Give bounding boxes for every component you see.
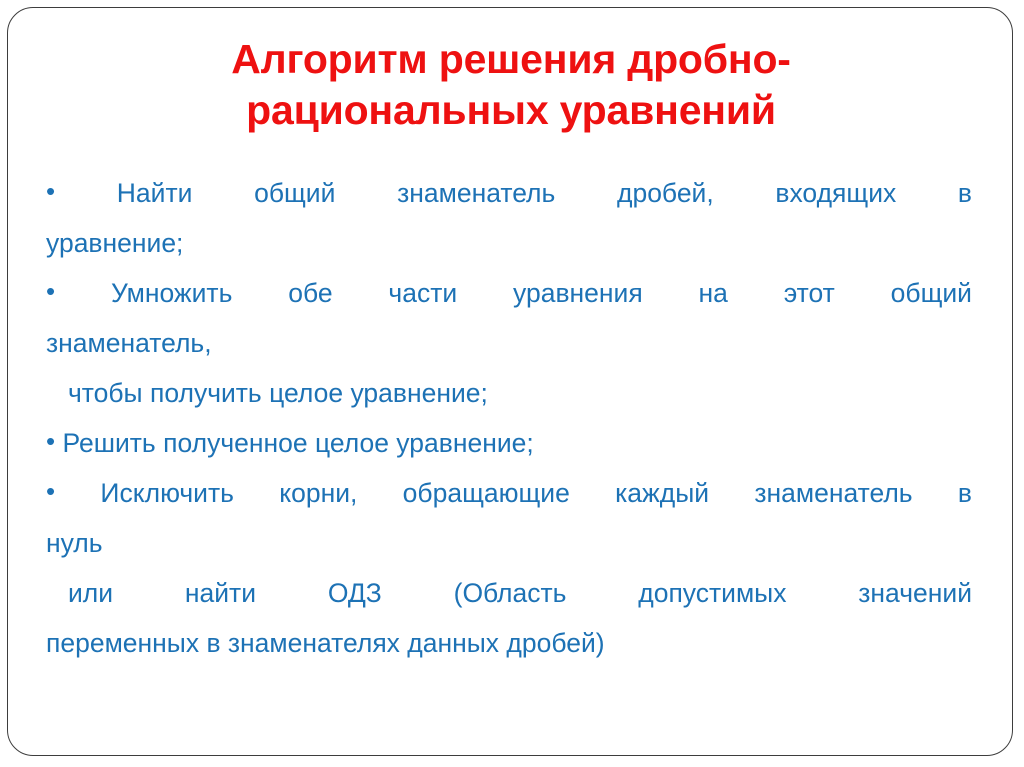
list-item-line: или найти ОДЗ (Область допустимых значен…	[46, 568, 972, 618]
algorithm-steps-list: • Найти общий знаменатель дробей, входящ…	[46, 168, 972, 668]
list-item: • Найти общий знаменатель дробей, входящ…	[46, 168, 972, 268]
list-item: • Исключить корни, обращающие каждый зна…	[46, 468, 972, 568]
list-item-text: Исключить корни, обращающие каждый знаме…	[100, 478, 972, 508]
list-item-text: уравнение;	[46, 228, 183, 258]
list-item-line: • Исключить корни, обращающие каждый зна…	[46, 468, 972, 518]
page-title-line-1: Алгоритм решения дробно-	[78, 34, 944, 85]
bullet-icon: •	[46, 428, 55, 454]
slide-frame: Алгоритм решения дробно- рациональных ур…	[7, 7, 1013, 756]
list-item-line: знаменатель,	[46, 318, 972, 368]
bullet-icon: •	[46, 278, 55, 304]
list-item-text: Решить полученное целое уравнение;	[62, 428, 533, 458]
list-item: • Решить полученное целое уравнение;	[46, 418, 972, 468]
list-item-text: нуль	[46, 528, 103, 558]
list-item-line: • Умножить обе части уравнения на этот о…	[46, 268, 972, 318]
list-item-line: переменных в знаменателях данных дробей)	[46, 618, 972, 668]
list-item-text: или найти ОДЗ (Область допустимых значен…	[68, 578, 972, 608]
list-item-line: • Решить полученное целое уравнение;	[46, 418, 972, 468]
page-title: Алгоритм решения дробно- рациональных ур…	[78, 34, 944, 136]
bullet-icon: •	[46, 478, 55, 504]
list-item-text: Умножить обе части уравнения на этот общ…	[111, 278, 972, 308]
bullet-icon: •	[46, 178, 55, 204]
list-item-line: уравнение;	[46, 218, 972, 268]
list-item-line: нуль	[46, 518, 972, 568]
list-item-line: • Найти общий знаменатель дробей, входящ…	[46, 168, 972, 218]
list-item: или найти ОДЗ (Область допустимых значен…	[46, 568, 972, 668]
list-item-text: переменных в знаменателях данных дробей)	[46, 628, 605, 658]
list-item: чтобы получить целое уравнение;	[46, 368, 972, 418]
list-item-text: чтобы получить целое уравнение;	[68, 378, 488, 408]
list-item-text: знаменатель,	[46, 328, 212, 358]
list-item-text: Найти общий знаменатель дробей, входящих…	[117, 178, 972, 208]
list-item-line: чтобы получить целое уравнение;	[46, 368, 972, 418]
page-title-line-2: рациональных уравнений	[78, 85, 944, 136]
list-item: • Умножить обе части уравнения на этот о…	[46, 268, 972, 368]
